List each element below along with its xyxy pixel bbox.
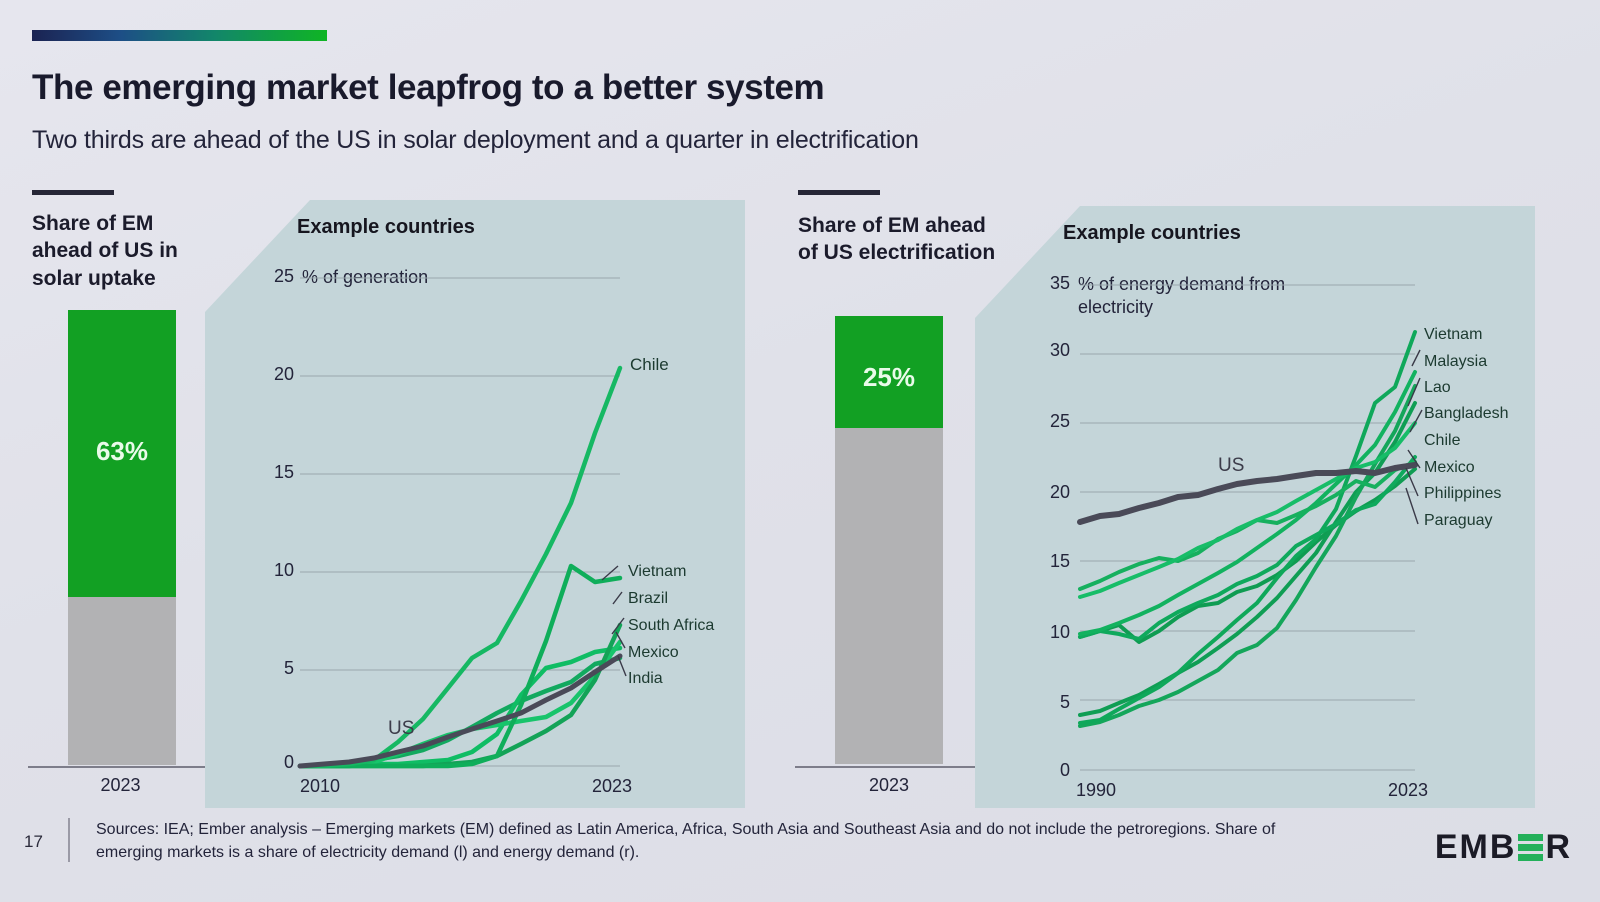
ember-logo-text-1: EMB <box>1435 828 1517 867</box>
right-section-rule <box>798 190 880 195</box>
panel1-ytick-20: 20 <box>258 364 294 385</box>
panel2-ytick-35: 35 <box>1034 273 1070 294</box>
panel2-label-bangladesh: Bangladesh <box>1424 405 1509 423</box>
panel1-xtick-start: 2010 <box>300 776 340 797</box>
left-bar-x-label: 2023 <box>28 775 213 796</box>
right-bar-heading: Share of EM ahead of US electrification <box>798 212 998 267</box>
panel2-ytick-15: 15 <box>1034 551 1070 572</box>
panel2-plot <box>1080 283 1415 770</box>
panel1-series-brazil <box>300 625 620 766</box>
left-bar-axis <box>28 766 213 768</box>
page-subtitle: Two thirds are ahead of the US in solar … <box>32 126 919 155</box>
left-section-rule <box>32 190 114 195</box>
left-bar-heading: Share of EM ahead of US in solar uptake <box>32 210 217 292</box>
right-bar-value: 25% <box>835 316 943 428</box>
panel2-leader-bangladesh <box>1410 410 1422 432</box>
panel1-gridlines <box>300 278 620 766</box>
panel2-ytick-25: 25 <box>1034 411 1070 432</box>
panel1-label-india: India <box>628 670 663 688</box>
footer-sources: Sources: IEA; Ember analysis – Emerging … <box>96 818 1296 864</box>
panel2-xtick-end: 2023 <box>1388 780 1428 801</box>
left-bar-remainder <box>68 597 176 765</box>
panel1-ytick-25: 25 <box>258 266 294 287</box>
panel2-series-us <box>1080 465 1415 522</box>
right-bar-chart: 25% <box>835 316 943 764</box>
ember-logo-e-icon <box>1518 834 1543 861</box>
right-bar-axis <box>795 766 983 768</box>
panel2-label-lao: Lao <box>1424 379 1451 397</box>
right-bar-remainder <box>835 428 943 764</box>
panel2-ytick-5: 5 <box>1034 692 1070 713</box>
panel2-ytick-20: 20 <box>1034 482 1070 503</box>
panel1-leader-brazil <box>613 592 622 604</box>
panel1-leader-vietnam <box>602 566 618 580</box>
panel1-ytick-10: 10 <box>258 560 294 581</box>
panel2-label-us: US <box>1218 455 1244 477</box>
panel2-label-paraguay: Paraguay <box>1424 512 1493 530</box>
page-title: The emerging market leapfrog to a better… <box>32 68 824 108</box>
brand-gradient-bar <box>32 30 327 41</box>
panel2-series-bangladesh <box>1080 403 1415 715</box>
left-bar-chart: 63% <box>68 310 176 765</box>
panel1-ytick-5: 5 <box>258 658 294 679</box>
panel2-leader-malaysia <box>1412 350 1420 366</box>
left-bar-percent-label: 63% <box>68 436 176 467</box>
panel1-xtick-end: 2023 <box>592 776 632 797</box>
panel1-series-mexico <box>300 648 620 766</box>
slide-root: The emerging market leapfrog to a better… <box>0 0 1600 902</box>
page-number: 17 <box>24 832 43 852</box>
panel2-series-malaysia <box>1080 372 1415 634</box>
panel2-xtick-start: 1990 <box>1076 780 1116 801</box>
panel2-ytick-30: 30 <box>1034 340 1070 361</box>
panel1-ytick-15: 15 <box>258 462 294 483</box>
right-bar-percent-label: 25% <box>835 362 943 393</box>
panel1-label-mexico: Mexico <box>628 644 679 662</box>
panel2-leader-lao <box>1408 378 1420 406</box>
panel1-ytick-0: 0 <box>258 752 294 773</box>
panel1-plot <box>300 276 620 766</box>
panel2-ytick-0: 0 <box>1034 760 1070 781</box>
panel2-label-philippines: Philippines <box>1424 485 1501 503</box>
footer-divider <box>68 818 70 862</box>
panel2-label-mexico: Mexico <box>1424 459 1475 477</box>
panel1-label-us: US <box>388 718 414 740</box>
left-bar-value: 63% <box>68 310 176 597</box>
panel1-label-chile: Chile <box>630 355 669 375</box>
panel2-ytick-10: 10 <box>1034 622 1070 643</box>
panel1-label-south-africa: South Africa <box>628 617 714 635</box>
panel2-label-chile: Chile <box>1424 432 1460 450</box>
ember-logo: EMB R <box>1435 828 1572 867</box>
panel1-label-brazil: Brazil <box>628 590 668 608</box>
panel1-title: Example countries <box>297 216 475 239</box>
ember-logo-text-2: R <box>1545 828 1572 867</box>
panel2-label-vietnam: Vietnam <box>1424 326 1482 344</box>
panel2-leader-mexico <box>1408 450 1420 468</box>
panel2-title: Example countries <box>1063 222 1241 245</box>
panel1-leader-india <box>618 656 626 676</box>
panel1-label-vietnam: Vietnam <box>628 563 686 581</box>
panel2-label-malaysia: Malaysia <box>1424 353 1487 371</box>
panel1-leader-southafrica <box>612 618 624 634</box>
panel1-leader-mexico <box>616 632 625 648</box>
right-bar-x-label: 2023 <box>795 775 983 796</box>
